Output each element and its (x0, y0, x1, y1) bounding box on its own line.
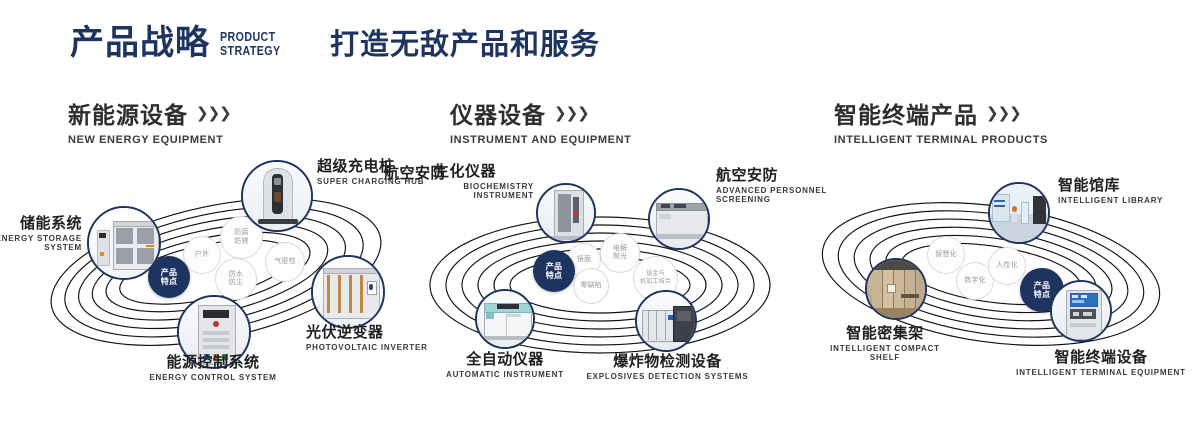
photo-energy-storage-cabinet (89, 208, 159, 278)
photo-automatic-analyzer (477, 291, 533, 347)
photo-personnel-screening-machine (650, 190, 708, 248)
photo-self-service-kiosk (1052, 282, 1110, 340)
photo-charging-pile (243, 162, 311, 230)
page-title-en: PRODUCT STRATEGY (220, 30, 281, 58)
node-title-cn-0-3: 能源控制系统 (88, 355, 338, 372)
node-title-cn-1-0: 航空安防 (358, 166, 446, 183)
node-photo-automatic-instrument[interactable] (475, 289, 535, 349)
section-heading-intelligent-terminal: 智能终端产品 ❯❯❯ INTELLIGENT TERMINAL PRODUCTS (834, 96, 1048, 146)
node-photo-compact-shelf[interactable] (865, 258, 927, 320)
page-title-en-line1: PRODUCT (220, 30, 281, 44)
photo-biochemistry-scanner (538, 185, 594, 241)
feature-bubble-0-0: 户外 (183, 236, 221, 274)
feature-label-2-2: 人性化 (996, 262, 1018, 271)
node-caption-energy-storage: 储能系统 ENERGY STORAGE SYSTEM (0, 216, 82, 253)
photo-smart-library-room (990, 184, 1048, 242)
node-photo-terminal-equipment[interactable] (1050, 280, 1112, 342)
node-title-en-2-2: INTELLIGENT TERMINAL EQUIPMENT (1011, 369, 1191, 378)
feature-bubble-1-1: 电解 抛光 (600, 233, 640, 273)
feature-bubble-1-3: 零缺陷 (573, 268, 609, 304)
node-title-en-1-1: BIOCHEMISTRY INSTRUMENT (434, 183, 534, 201)
core-label-1: 产品 特点 (546, 262, 562, 281)
node-title-en-2-1: INTELLIGENT COMPACT SHELF (785, 345, 985, 363)
page-title: 产品战略 (70, 26, 210, 60)
feature-label-0-0: 户外 (195, 251, 209, 260)
node-photo-explosives-detection[interactable] (635, 290, 697, 352)
node-caption-compact-shelf: 智能密集架 INTELLIGENT COMPACT SHELF (785, 326, 985, 363)
section-title-en-1: INSTRUMENT AND EQUIPMENT (450, 134, 631, 146)
node-photo-smart-library[interactable] (988, 182, 1050, 244)
core-label-0: 产品 特点 (161, 268, 177, 287)
node-title-cn-1-1: 生化仪器 (434, 164, 534, 181)
node-title-en-0-0: ENERGY STORAGE SYSTEM (0, 235, 82, 253)
photo-compact-shelf (867, 260, 925, 318)
section-title-cn-2: 智能终端产品 (834, 96, 978, 130)
node-caption-aviation-security: 航空安防 (358, 166, 446, 183)
core-bubble-instrument: 产品 特点 (533, 250, 575, 292)
feature-label-2-0: 智慧化 (935, 251, 957, 260)
node-photo-personnel-screening[interactable] (648, 188, 710, 250)
cluster-instrument: 镜面 电解 抛光 钣金与 机加工结合 零缺陷 产品 特点 航空安防 (400, 150, 800, 400)
node-caption-explosives-detection: 爆炸物检测设备 EXPLOSIVES DETECTION SYSTEMS (575, 354, 760, 382)
node-caption-terminal-equipment: 智能终端设备 INTELLIGENT TERMINAL EQUIPMENT (1011, 350, 1191, 378)
photo-explosives-detector (637, 292, 695, 350)
node-photo-pv-inverter[interactable] (311, 255, 385, 329)
page-title-block: 产品战略 PRODUCT STRATEGY (70, 26, 294, 60)
chevron-right-icon-1: ❯❯❯ (554, 104, 589, 122)
section-heading-new-energy: 新能源设备 ❯❯❯ NEW ENERGY EQUIPMENT (68, 96, 231, 146)
node-caption-energy-control: 能源控制系统 ENERGY CONTROL SYSTEM (88, 355, 338, 383)
feature-label-1-2: 钣金与 机加工结合 (640, 271, 671, 286)
node-photo-energy-storage[interactable] (87, 206, 161, 280)
feature-bubble-0-2: 气密性 (265, 242, 305, 282)
node-title-cn-2-2: 智能终端设备 (1011, 350, 1191, 367)
page-title-en-line2: STRATEGY (220, 44, 281, 58)
cluster-intelligent-terminal: 智慧化 数字化 人性化 产品 特点 智能馆库 (795, 150, 1195, 400)
feature-bubble-2-2: 人性化 (988, 247, 1026, 285)
chevron-right-icon-2: ❯❯❯ (986, 104, 1021, 122)
section-title-en-0: NEW ENERGY EQUIPMENT (68, 134, 231, 146)
node-title-cn-2-1: 智能密集架 (785, 326, 985, 343)
feature-label-1-3: 零缺陷 (580, 282, 602, 291)
feature-label-0-1: 防腐 防锈 (234, 229, 248, 246)
feature-bubble-0-3: 防水 防尘 (215, 258, 257, 300)
feature-label-0-3: 防水 防尘 (229, 271, 243, 288)
photo-pv-inverter-cabinet (313, 257, 383, 327)
section-heading-instrument: 仪器设备 ❯❯❯ INSTRUMENT AND EQUIPMENT (450, 96, 631, 146)
node-caption-biochemistry: 生化仪器 BIOCHEMISTRY INSTRUMENT (434, 164, 534, 201)
section-title-cn-1: 仪器设备 (450, 96, 546, 130)
core-label-2: 产品 特点 (1034, 281, 1050, 300)
section-title-cn-0: 新能源设备 (68, 96, 188, 130)
node-title-en-2-0: INTELLIGENT LIBRARY (1058, 197, 1188, 206)
node-title-en-0-3: ENERGY CONTROL SYSTEM (88, 374, 338, 383)
poster-canvas: 产品战略 PRODUCT STRATEGY 打造无敌产品和服务 新能源设备 ❯❯… (0, 0, 1200, 422)
node-title-cn-1-4: 爆炸物检测设备 (575, 354, 760, 371)
node-title-en-1-4: EXPLOSIVES DETECTION SYSTEMS (575, 373, 760, 382)
feature-label-0-2: 气密性 (274, 258, 296, 267)
node-photo-charging-hub[interactable] (241, 160, 313, 232)
feature-label-2-1: 数字化 (964, 277, 986, 286)
feature-label-1-0: 镜面 (577, 256, 591, 265)
node-title-cn-2-0: 智能馆库 (1058, 178, 1188, 195)
node-title-cn-0-0: 储能系统 (0, 216, 82, 233)
cluster-new-energy: 户外 防腐 防锈 气密性 防水 防尘 产品 特点 (20, 150, 420, 400)
node-caption-smart-library: 智能馆库 INTELLIGENT LIBRARY (1058, 178, 1188, 206)
section-title-en-2: INTELLIGENT TERMINAL PRODUCTS (834, 134, 1048, 146)
page-subtitle: 打造无敌产品和服务 (330, 30, 600, 62)
node-photo-biochemistry[interactable] (536, 183, 596, 243)
chevron-right-icon-0: ❯❯❯ (196, 104, 231, 122)
feature-label-1-1: 电解 抛光 (613, 245, 627, 262)
